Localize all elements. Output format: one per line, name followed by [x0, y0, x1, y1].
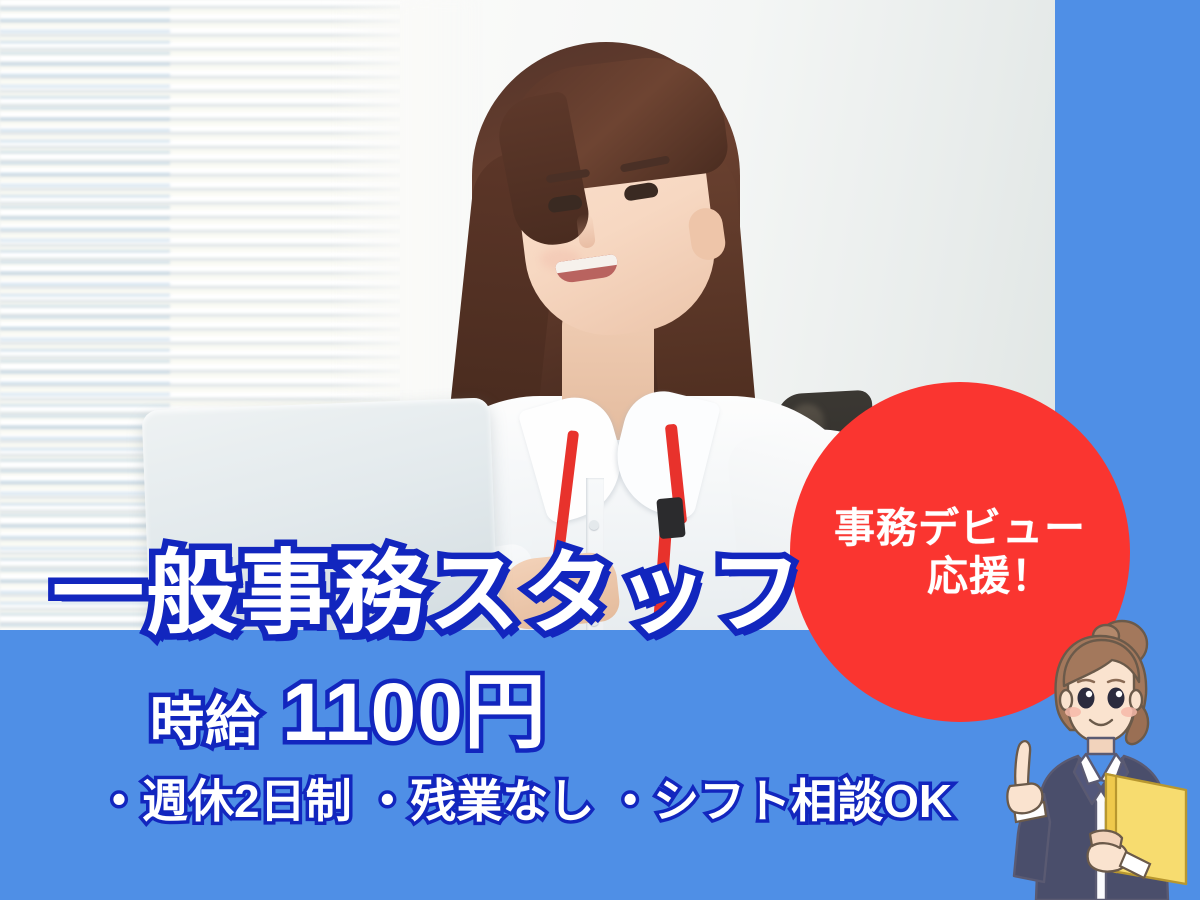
wage-line: 時給 1100円	[150, 672, 770, 754]
badge-line-2: 応援！	[867, 552, 1053, 600]
ear-left	[1060, 690, 1072, 710]
illustration-businesswoman	[1000, 612, 1200, 900]
blush-left	[1065, 707, 1081, 717]
badge-line-1: 事務デビュー	[834, 504, 1086, 552]
fist	[1007, 784, 1042, 814]
blush-right	[1121, 707, 1137, 717]
blouse-button	[589, 520, 599, 530]
job-title-headline: 一般事務スタッフ	[52, 548, 812, 640]
perks-line: ・週休2日制 ・残業なし ・シフト相談OK	[96, 778, 956, 824]
job-ad-poster: 事務デビュー 応援！ 一般事務スタッフ 時給 1100円 ・週休2日制 ・残業な…	[0, 0, 1200, 900]
ear-right	[1130, 690, 1142, 710]
wage-label: 時給	[150, 695, 260, 749]
neck	[1088, 738, 1114, 754]
index-finger	[1015, 741, 1030, 788]
wage-amount: 1100円	[282, 672, 547, 754]
lanyard-clip	[656, 497, 685, 539]
